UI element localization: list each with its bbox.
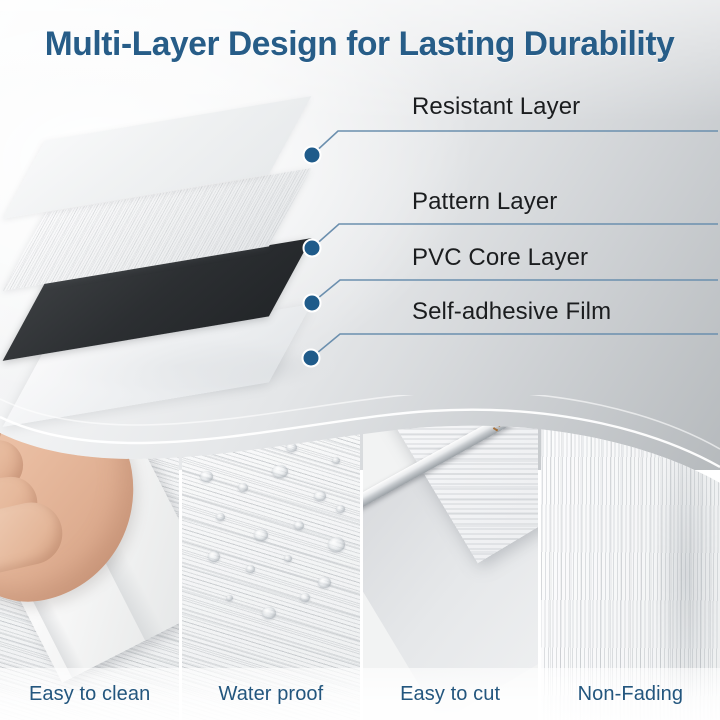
page-title-text: Multi-Layer Design for Lasting Durabilit… — [45, 25, 675, 64]
callout-label-resistant-layer: Resistant Layer — [412, 93, 580, 121]
page-title: Multi-Layer Design for Lasting Durabilit… — [0, 18, 720, 70]
feature-caption-easy-to-clean: Easy to clean — [0, 668, 179, 720]
callout-line-resistant-layer — [312, 131, 718, 155]
feature-caption-easy-to-cut: Easy to cut — [363, 668, 538, 720]
callout-dot-self-adhesive-film — [303, 350, 320, 367]
callout-line-self-adhesive-film — [311, 334, 718, 358]
callout-dot-pvc-core-layer — [304, 295, 321, 312]
infographic-canvas: Multi-Layer Design for Lasting Durabilit… — [0, 0, 720, 720]
feature-caption-non-fading: Non-Fading — [541, 668, 720, 720]
callout-lines — [0, 0, 720, 470]
feature-caption-water-proof: Water proof — [182, 668, 359, 720]
callout-label-pattern-layer: Pattern Layer — [412, 188, 557, 216]
callout-group: Resistant Layer Pattern Layer PVC Core L… — [0, 0, 720, 470]
callout-dot-resistant-layer — [304, 147, 321, 164]
callout-label-self-adhesive-film: Self-adhesive Film — [412, 298, 611, 326]
callout-dot-pattern-layer — [304, 240, 321, 257]
callout-label-pvc-core-layer: PVC Core Layer — [412, 244, 588, 272]
